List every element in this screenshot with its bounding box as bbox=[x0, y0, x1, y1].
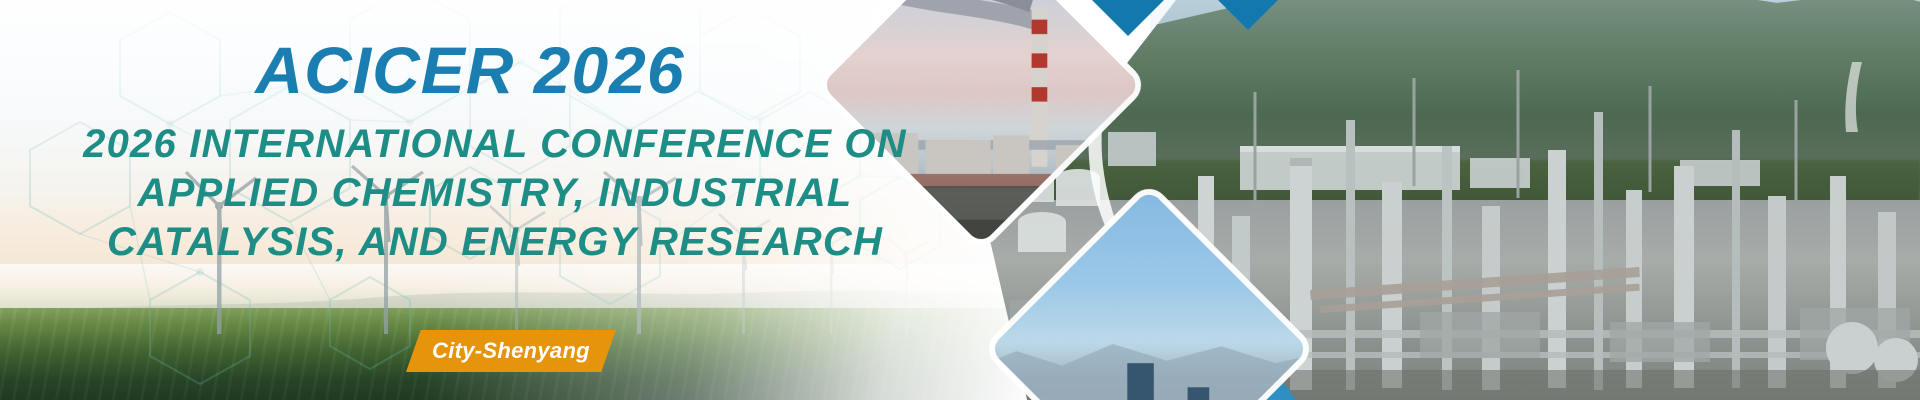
conference-banner: ACICER 2026 2026 INTERNATIONAL CONFERENC… bbox=[0, 0, 1920, 400]
city-badge: City-Shenyang bbox=[406, 330, 616, 372]
